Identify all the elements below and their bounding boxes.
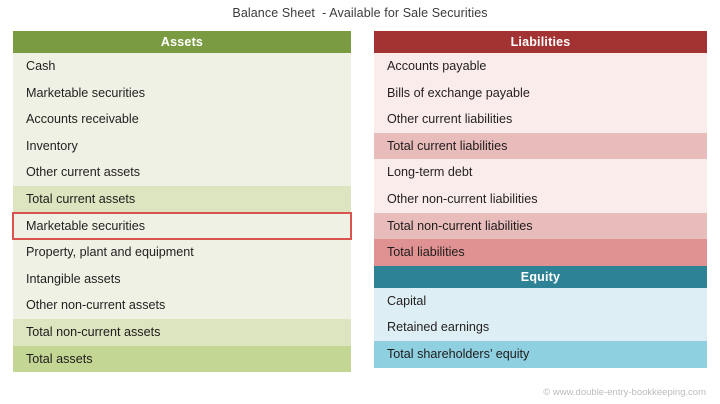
- page-title: Balance Sheet - Available for Sale Secur…: [0, 6, 720, 20]
- copyright-footer: © www.double-entry-bookkeeping.com: [543, 387, 706, 398]
- liability-row-label: Total liabilities: [387, 245, 465, 259]
- assets-column: Assets CashMarketable securitiesAccounts…: [13, 31, 351, 372]
- liability-row: Other current liabilities: [374, 106, 707, 133]
- asset-row: Intangible assets: [13, 266, 351, 293]
- asset-row-label: Inventory: [26, 139, 78, 153]
- asset-row: Accounts receivable: [13, 106, 351, 133]
- asset-row-label: Total assets: [26, 352, 93, 366]
- asset-row-label: Property, plant and equipment: [26, 245, 194, 259]
- liability-row: Accounts payable: [374, 53, 707, 80]
- liability-row: Total liabilities: [374, 239, 707, 266]
- asset-row-label: Accounts receivable: [26, 112, 139, 126]
- asset-row-label: Intangible assets: [26, 272, 121, 286]
- equity-row-list: CapitalRetained earningsTotal shareholde…: [374, 288, 707, 368]
- liability-row-label: Long-term debt: [387, 165, 472, 179]
- asset-row-label: Total non-current assets: [26, 325, 160, 339]
- asset-row: Total non-current assets: [13, 319, 351, 346]
- liability-row-label: Other current liabilities: [387, 112, 512, 126]
- equity-section-header: Equity: [374, 266, 707, 288]
- asset-row: Total assets: [13, 346, 351, 373]
- assets-row-list: CashMarketable securitiesAccounts receiv…: [13, 53, 351, 372]
- equity-row-label: Retained earnings: [387, 320, 489, 334]
- liability-row-label: Total current liabilities: [387, 139, 507, 153]
- asset-row-label: Cash: [26, 59, 55, 73]
- equity-row: Capital: [374, 288, 707, 315]
- liability-row: Bills of exchange payable: [374, 80, 707, 107]
- liability-row-label: Bills of exchange payable: [387, 86, 530, 100]
- asset-row: Other current assets: [13, 159, 351, 186]
- equity-row-label: Total shareholders’ equity: [387, 347, 529, 361]
- equity-row: Total shareholders’ equity: [374, 341, 707, 368]
- equity-row-label: Capital: [387, 294, 426, 308]
- asset-row-label: Other current assets: [26, 165, 140, 179]
- asset-row: Cash: [13, 53, 351, 80]
- assets-section-header: Assets: [13, 31, 351, 53]
- liability-row-label: Other non-current liabilities: [387, 192, 538, 206]
- equity-row: Retained earnings: [374, 314, 707, 341]
- asset-row-label: Marketable securities: [26, 86, 145, 100]
- asset-row-label: Total current assets: [26, 192, 135, 206]
- asset-row: Other non-current assets: [13, 292, 351, 319]
- liabilities-section-header: Liabilities: [374, 31, 707, 53]
- liabilities-row-list: Accounts payableBills of exchange payabl…: [374, 53, 707, 266]
- liability-row: Other non-current liabilities: [374, 186, 707, 213]
- asset-row: Total current assets: [13, 186, 351, 213]
- liability-row: Total current liabilities: [374, 133, 707, 160]
- liabilities-equity-column: Liabilities Accounts payableBills of exc…: [374, 31, 707, 368]
- asset-row-label: Other non-current assets: [26, 298, 165, 312]
- liability-row: Total non-current liabilities: [374, 213, 707, 240]
- asset-row: Marketable securities: [13, 80, 351, 107]
- asset-row-label: Marketable securities: [26, 219, 145, 233]
- asset-row: Property, plant and equipment: [13, 239, 351, 266]
- liability-row-label: Accounts payable: [387, 59, 486, 73]
- asset-row: Marketable securities: [13, 213, 351, 240]
- liability-row-label: Total non-current liabilities: [387, 219, 533, 233]
- asset-row: Inventory: [13, 133, 351, 160]
- liability-row: Long-term debt: [374, 159, 707, 186]
- balance-sheet-diagram: Balance Sheet - Available for Sale Secur…: [0, 0, 720, 404]
